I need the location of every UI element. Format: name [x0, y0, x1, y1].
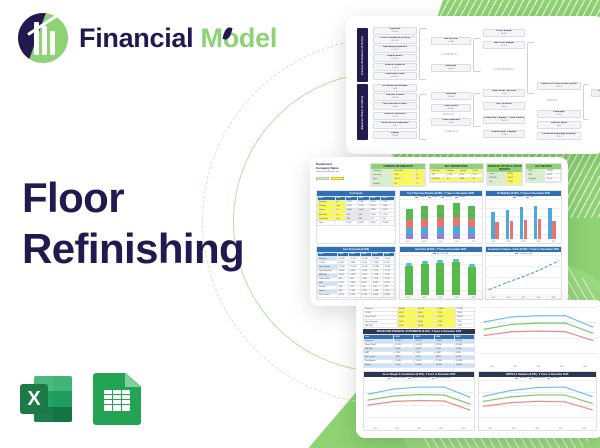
dashboard-sheet: Dashboard Company Name www.financialmode… [316, 163, 562, 300]
flow-node: Cost of Revenue (COGS)(8,180) [373, 36, 417, 44]
line-plot-gross-margin: 20222023202420252026 [364, 380, 474, 430]
flow-node: Return on Total Assets (ROA)36.2% [537, 82, 581, 90]
panel-key-assumptions: KEY ASSUMPTIONS Unit PriceVolumeGrowthCh… [429, 163, 484, 183]
flow-node: Net Income5,066 [431, 37, 471, 45]
flow-node: Equity12,595 [373, 131, 417, 139]
panel-profitability-chart: Profitability ($ 000) - 5 Years to Decem… [485, 190, 562, 244]
flow-node: Revenue23,600 [373, 27, 417, 35]
flow-node: Corporate Taxes(1,215) [373, 72, 417, 80]
line-charts-sheet: Revenue18,24020,11821,66022,908 COGS6,32… [363, 307, 597, 431]
cashflow-plot: 20222023202420252026 [400, 255, 482, 299]
flow-connector [583, 84, 589, 120]
flow-node: Total Debt + Equity = Total Assets14,002 [483, 116, 525, 124]
flow-connector [473, 38, 481, 72]
panel-projected-statements: Revenue18,24020,11821,66022,908 COGS6,32… [363, 307, 475, 368]
flow-node: Current Liabilities1,275 [373, 112, 417, 120]
screenshot-card-flowchart[interactable]: Income Statement (2 Units) Balance Sheet… [346, 16, 600, 154]
brand-name: Financial Model [79, 25, 277, 52]
flow-node: Revenue23,600 [431, 64, 471, 72]
flow-node: Accounts Receivable646 [373, 84, 417, 92]
flow-operator: (×) MULTIPLIED by [493, 68, 514, 71]
google-sheets-icon[interactable] [93, 373, 141, 425]
sheets-grid-glyph [104, 390, 130, 411]
panel-cashflow-chart: Cash flow ($ 000) - 5 Years to December … [399, 246, 483, 300]
flow-node: Net Profit Margin21.5% [483, 41, 525, 49]
flow-node: Leverage1.112 [537, 110, 581, 118]
flow-node: A/R Turnover36.54 [483, 102, 525, 110]
flow-connector [419, 94, 427, 140]
flow-node: Revenue23,600 [431, 92, 471, 100]
screenshot-card-dashboard[interactable]: Dashboard Company Name www.financialmode… [310, 157, 568, 306]
panel-key-metrics: KEY METRICS NPV12,508 IRR34.6% Payback2.… [525, 163, 562, 183]
brand-name-part2: Model [201, 23, 278, 53]
flow-operator: divided by [443, 113, 454, 116]
flow-connector [527, 42, 535, 94]
headline-line-1: Floor [22, 172, 244, 223]
dashboard-title-block: Dashboard Company Name www.financialmode… [316, 163, 367, 180]
flow-operator: (÷) DIVIDED by [441, 53, 457, 56]
financial-model-circle-logo-icon [18, 13, 68, 63]
panel-financial-ratios: FINANCIAL RATIOS & OTHER METRICS Gross65… [486, 163, 523, 186]
panel-cost-inputs: Cost Inputs ItemUnit2022202320242025 San… [316, 190, 396, 244]
flow-node: Non-Current Assets1,446 [373, 102, 417, 110]
excel-icon[interactable]: X [20, 373, 72, 425]
flow-node: Gross Margin65.3% [483, 29, 525, 37]
panel-gross-margin-chart: Gross Margin & Contribution ($ 000) - 5 … [363, 371, 475, 431]
line-plot-projected: 20222023202420252026 [480, 307, 597, 368]
flow-node: Interest Expense(237) [373, 63, 417, 71]
panel-core-financials: Core Financials ($ 000) Line202220232024… [316, 246, 396, 300]
stacked-bar-plot: 20222023202420252026 [400, 199, 482, 243]
flow-node: Total Assets14,002 [431, 104, 471, 112]
flow-node: Current Assets12,556 [373, 93, 417, 101]
file-format-icons: X [20, 373, 141, 425]
flow-connector [473, 93, 481, 127]
flow-node-roe: Return on Equity (ROE)40.2% [591, 89, 600, 97]
dupont-flowchart: Income Statement (2 Units) Balance Sheet… [357, 26, 595, 145]
profitability-plot: 20222023202420252026 [486, 199, 561, 243]
panel-investment-chart: Investment Analysis / Cash ($ 000) - 5 Y… [485, 246, 562, 300]
brand-logo[interactable]: Financial Model [18, 13, 277, 63]
headline-line-2: Refinishing [22, 223, 244, 274]
page-title: Floor Refinishing [22, 172, 244, 274]
flow-node: Total Liabilities1,408 [431, 118, 471, 126]
investment-plot: 20222023202420252026 [486, 255, 561, 299]
flow-operator: multiplied by [445, 130, 458, 133]
promo-banner: Financial Model Floor Refinishing X [0, 0, 600, 448]
panel-ebitda-chart: EBITDA & Valuation ($ 000) - 5 Years to … [478, 371, 598, 431]
flow-node: Financial Leverage (unified)11.12 [537, 132, 581, 140]
flow-node: Depreciation(1,186) [373, 54, 417, 62]
screenshot-card-line-charts[interactable]: Revenue18,24020,11821,66022,908 COGS6,32… [356, 300, 600, 438]
flow-node: Operating Expenses(7,716) [373, 45, 417, 53]
flow-side-label-balance-sheet: Balance Sheet (2 Units) [357, 84, 368, 140]
excel-letter: X [20, 384, 48, 414]
flow-node: Non-Current Liabilities133 [373, 121, 417, 129]
line-plot-ebitda: 20222023202420252026 [479, 380, 597, 430]
flow-operator: divided by [547, 99, 558, 102]
panel-company-information: COMPANY INFORMATION CompanyFloor Ref.1 C… [370, 163, 426, 187]
panel-top-right-line-chart: 20222023202420252026 [480, 307, 597, 368]
flow-node: Current Ratio9.85 [537, 121, 581, 129]
flow-side-label-income-statement: Income Statement (2 Units) [357, 28, 368, 82]
flow-node: Shareholder's Equity12,595 [483, 130, 525, 138]
flow-node: Total Asset Turnover1.69 [483, 89, 525, 97]
panel-revenue-streams-chart: Top 5 Revenue Streams ($ 000) - 5 Years … [399, 190, 483, 244]
flow-connector [419, 28, 427, 80]
brand-name-part1: Financial [79, 23, 201, 53]
